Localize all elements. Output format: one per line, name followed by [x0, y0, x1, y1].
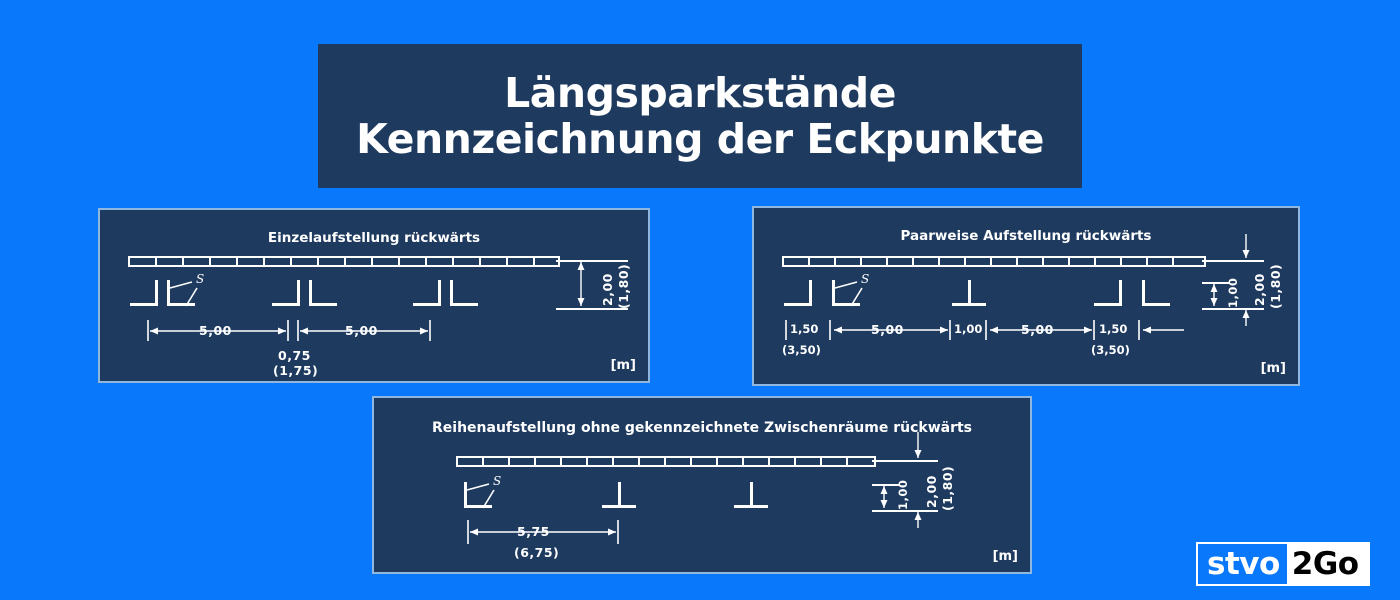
mark-bar-horizontal	[784, 303, 812, 306]
dimension-label: 1,50	[1099, 322, 1127, 336]
vertical-dim-bottom-rule	[872, 510, 938, 512]
dimension-label: 5,00	[345, 323, 378, 338]
kerb-tick	[371, 256, 373, 267]
title-line-2: Kennzeichnung der Eckpunkte	[356, 117, 1044, 161]
corner-mark-bottom-right	[413, 280, 441, 306]
kerb-tick	[912, 256, 914, 267]
kerb-tick	[938, 256, 940, 267]
kerb-tick	[263, 256, 265, 267]
kerb-tick	[1068, 256, 1070, 267]
kerb-tick	[479, 256, 481, 267]
kerb-tick	[716, 456, 718, 467]
corner-mark-bottom-left-with-s	[832, 280, 860, 306]
kerb-rail-bottom	[782, 265, 1206, 267]
mark-bar-horizontal	[734, 505, 768, 508]
dimension-label: 1,50	[790, 322, 818, 336]
kerb-tick	[506, 256, 508, 267]
panel-einzelaufstellung: Einzelaufstellung rückwärts S	[98, 208, 650, 383]
kerb-tick	[482, 456, 484, 467]
title-line-1: Längsparkstände	[504, 71, 896, 115]
kerb-rail-bottom	[456, 465, 876, 467]
kerb-tick	[560, 456, 562, 467]
panel-title: Reihenaufstellung ohne gekennzeichnete Z…	[374, 420, 1030, 436]
title-banner: Längsparkstände Kennzeichnung der Eckpun…	[318, 44, 1082, 188]
dimension-alt-label: (3,50)	[782, 343, 821, 357]
dimension-label: 5,00	[199, 323, 232, 338]
corner-mark-bottom-left	[450, 280, 478, 306]
kerb-hatching	[456, 456, 876, 467]
kerb-tick	[533, 256, 535, 267]
kerb-tick	[456, 456, 458, 467]
kerb-tick	[508, 456, 510, 467]
vertical-dim-top-rule	[1202, 260, 1264, 262]
kerb-tick	[638, 456, 640, 467]
vertical-dimension-alt-label: (1,80)	[1268, 264, 1283, 309]
corner-mark-bottom-right	[784, 280, 812, 306]
kerb-rail-top	[782, 256, 1206, 258]
kerb-hatching	[782, 256, 1206, 267]
corner-mark-bottom-right	[1094, 280, 1122, 306]
kerb-tick	[1120, 256, 1122, 267]
kerb-tick	[586, 456, 588, 467]
s-annotation-label: S	[861, 272, 869, 286]
vertical-dimension-label: 2,00	[1252, 273, 1267, 306]
s-annotation-label: S	[493, 474, 501, 488]
kerb-tick	[425, 256, 427, 267]
corner-mark-inverted-t	[952, 280, 986, 306]
unit-label: [m]	[611, 358, 636, 373]
kerb-tick	[834, 256, 836, 267]
kerb-tick	[782, 256, 784, 267]
stvo2go-logo[interactable]: stvo 2Go	[1196, 542, 1370, 586]
mark-bar-horizontal	[130, 303, 158, 306]
corner-mark-inverted-t	[734, 482, 768, 508]
mark-bar-horizontal	[413, 303, 441, 306]
mark-bar-horizontal	[464, 505, 492, 508]
panel-reihenaufstellung: Reihenaufstellung ohne gekennzeichnete Z…	[372, 396, 1032, 574]
kerb-tick	[612, 456, 614, 467]
corner-mark-bottom-left	[1142, 280, 1170, 306]
dimension-label: 5,75	[517, 524, 550, 539]
mark-bar-horizontal	[450, 303, 478, 306]
mark-bar-horizontal	[1142, 303, 1170, 306]
vertical-dim-top-rule	[872, 460, 938, 462]
kerb-tick	[182, 256, 184, 267]
kerb-tick	[964, 256, 966, 267]
mark-bar-horizontal	[309, 303, 337, 306]
kerb-tick	[209, 256, 211, 267]
kerb-tick	[398, 256, 400, 267]
kerb-tick	[1146, 256, 1148, 267]
vertical-dimension-alt-label: (1,80)	[616, 264, 631, 309]
panel-paarweise: Paarweise Aufstellung rückwärts S	[752, 206, 1300, 386]
dimension-alt-label: (6,75)	[514, 545, 559, 560]
kerb-tick	[344, 256, 346, 267]
dimension-label: 5,00	[1021, 322, 1054, 337]
logo-text-2go: 2Go	[1287, 544, 1368, 584]
vertical-dimension-label: 1,00	[896, 480, 910, 510]
corner-mark-bottom-right	[272, 280, 300, 306]
kerb-tick	[664, 456, 666, 467]
vertical-dimension-alt-label: (1,80)	[940, 466, 955, 511]
kerb-tick	[236, 256, 238, 267]
kerb-tick	[1172, 256, 1174, 267]
dimension-label: 5,00	[871, 322, 904, 337]
corner-mark-bottom-left	[309, 280, 337, 306]
s-annotation-label: S	[196, 272, 204, 286]
kerb-tick	[1016, 256, 1018, 267]
kerb-hatching	[128, 256, 560, 267]
dimension-label: 1,00	[954, 322, 982, 336]
gap-dimension-label: 0,75	[278, 348, 311, 363]
corner-mark-bottom-left-with-s	[167, 280, 195, 306]
kerb-tick	[290, 256, 292, 267]
kerb-tick	[768, 456, 770, 467]
kerb-tick	[886, 256, 888, 267]
mark-bar-horizontal	[832, 303, 860, 306]
kerb-tick	[534, 456, 536, 467]
mark-bar-horizontal	[167, 303, 195, 306]
kerb-tick	[794, 456, 796, 467]
vertical-dimension-label: 2,00	[924, 475, 939, 508]
vertical-dimension-label: 2,00	[600, 273, 615, 306]
kerb-tick	[317, 256, 319, 267]
logo-text-stvo: stvo	[1198, 544, 1287, 584]
kerb-tick	[808, 256, 810, 267]
kerb-tick	[846, 456, 848, 467]
kerb-tick	[990, 256, 992, 267]
kerb-tick	[690, 456, 692, 467]
unit-label: [m]	[993, 549, 1018, 564]
mark-bar-horizontal	[1094, 303, 1122, 306]
kerb-tick	[128, 256, 130, 267]
corner-mark-bottom-left-with-s	[464, 482, 492, 508]
panel-title: Einzelaufstellung rückwärts	[100, 230, 648, 246]
unit-label: [m]	[1261, 361, 1286, 376]
kerb-tick	[1094, 256, 1096, 267]
vertical-dim-upper-rule	[556, 260, 628, 262]
vertical-dim-bottom-rule	[1202, 308, 1264, 310]
mark-bar-horizontal	[272, 303, 300, 306]
kerb-tick	[742, 456, 744, 467]
panel-title: Paarweise Aufstellung rückwärts	[754, 228, 1298, 244]
kerb-tick	[452, 256, 454, 267]
gap-dimension-alt-label: (1,75)	[273, 363, 318, 378]
kerb-tick	[155, 256, 157, 267]
kerb-tick	[820, 456, 822, 467]
corner-mark-bottom-right	[130, 280, 158, 306]
mark-bar-horizontal	[952, 303, 986, 306]
kerb-tick	[860, 256, 862, 267]
kerb-rail-top	[456, 456, 876, 458]
dimension-alt-label: (3,50)	[1091, 343, 1130, 357]
vertical-dimension-label: 1,00	[1226, 278, 1240, 308]
corner-mark-inverted-t	[602, 482, 636, 508]
kerb-tick	[1042, 256, 1044, 267]
mark-bar-horizontal	[602, 505, 636, 508]
